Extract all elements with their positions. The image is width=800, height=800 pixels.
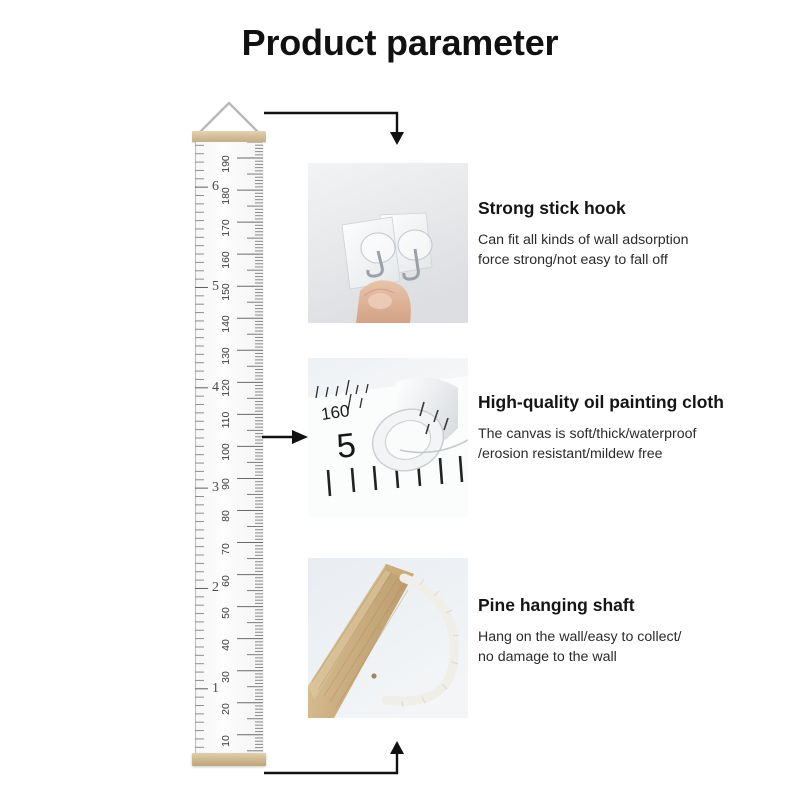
feature-text-cloth: High-quality oil painting cloth The canv… xyxy=(478,392,778,464)
cm-label-20: 20 xyxy=(220,703,232,715)
svg-text:160: 160 xyxy=(320,401,351,424)
cm-label-120: 120 xyxy=(220,380,232,398)
cm-label-130: 130 xyxy=(220,348,232,366)
feature-body-shaft: Hang on the wall/easy to collect/ no dam… xyxy=(478,627,778,667)
feature-text-hook: Strong stick hook Can fit all kinds of w… xyxy=(478,198,778,270)
growth-chart-ruler: 1901801701601501401301201101009080706050… xyxy=(190,98,268,778)
cm-label-100: 100 xyxy=(220,444,232,462)
cm-label-80: 80 xyxy=(220,511,232,523)
feature-body-hook: Can fit all kinds of wall adsorption for… xyxy=(478,230,778,270)
feature-heading-hook: Strong stick hook xyxy=(478,198,778,218)
feature-heading-shaft: Pine hanging shaft xyxy=(478,595,778,615)
feet-label-2: 2 xyxy=(212,580,219,596)
cm-label-190: 190 xyxy=(220,155,232,173)
cm-label-170: 170 xyxy=(220,219,232,237)
svg-text:5: 5 xyxy=(335,426,358,466)
rolled-canvas-photo: 160 5 xyxy=(308,358,468,518)
adhesive-hook-photo xyxy=(308,163,468,323)
cm-label-70: 70 xyxy=(220,543,232,555)
cm-label-10: 10 xyxy=(220,735,232,747)
cm-label-90: 90 xyxy=(220,479,232,491)
infographic-canvas: Product parameter 1901801701601501401301… xyxy=(0,0,800,800)
cm-label-60: 60 xyxy=(220,575,232,587)
feet-label-5: 5 xyxy=(212,279,219,295)
pine-shaft-rope-photo xyxy=(308,558,468,718)
cm-label-160: 160 xyxy=(220,251,232,269)
feet-label-6: 6 xyxy=(212,179,219,195)
cm-label-30: 30 xyxy=(220,671,232,683)
rope-hanger-icon xyxy=(190,98,268,134)
cm-label-180: 180 xyxy=(220,187,232,205)
ruler-top-wooden-bar xyxy=(192,131,266,142)
feature-heading-cloth: High-quality oil painting cloth xyxy=(478,392,778,412)
cm-label-50: 50 xyxy=(220,607,232,619)
cm-label-40: 40 xyxy=(220,639,232,651)
page-title: Product parameter xyxy=(0,22,800,64)
cm-label-150: 150 xyxy=(220,283,232,301)
feet-label-3: 3 xyxy=(212,480,219,496)
arrow-to-canvas-photo xyxy=(262,428,310,446)
feature-text-shaft: Pine hanging shaft Hang on the wall/easy… xyxy=(478,595,778,667)
feet-label-1: 1 xyxy=(212,681,219,697)
cm-label-140: 140 xyxy=(220,315,232,333)
arrow-to-hook-photo xyxy=(262,108,407,146)
feature-body-cloth: The canvas is soft/thick/waterproof /ero… xyxy=(478,424,778,464)
feet-label-4: 4 xyxy=(212,380,219,396)
ruler-bottom-wooden-bar xyxy=(192,753,266,766)
cm-label-110: 110 xyxy=(220,412,232,429)
arrow-to-pine-shaft-photo xyxy=(262,740,407,778)
